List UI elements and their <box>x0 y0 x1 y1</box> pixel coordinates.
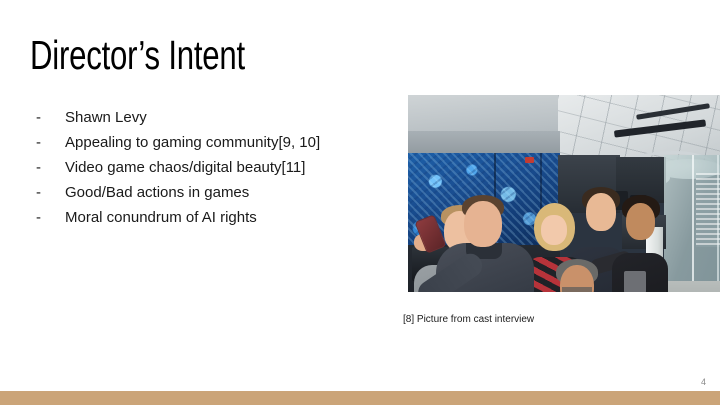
photo-person-5-shirt-graphic <box>624 271 646 292</box>
photo-person-3-head <box>541 215 567 245</box>
bullet-marker: - <box>36 105 65 130</box>
list-item-label: Moral conundrum of AI rights <box>65 205 406 230</box>
list-item-label: Appealing to gaming community[9, 10] <box>65 130 406 155</box>
photo-glass-mullion <box>692 155 694 292</box>
bullet-marker: - <box>36 205 65 230</box>
photo-person-6-beard <box>562 287 592 292</box>
bullet-marker: - <box>36 180 65 205</box>
bullet-list: - Shawn Levy - Appealing to gaming commu… <box>36 105 406 230</box>
list-item: - Video game chaos/digital beauty[11] <box>36 155 406 180</box>
list-item: - Moral conundrum of AI rights <box>36 205 406 230</box>
page-number: 4 <box>701 377 706 387</box>
photo-person-5-head <box>626 203 655 240</box>
slide: Director’s Intent - Shawn Levy - Appeali… <box>0 0 720 405</box>
photo-person-4-head <box>586 193 616 231</box>
page-title: Director’s Intent <box>30 34 245 77</box>
photo-person-1-head <box>464 201 502 247</box>
bullet-marker: - <box>36 155 65 180</box>
cast-interview-photo <box>408 95 720 292</box>
bullet-marker: - <box>36 130 65 155</box>
list-item: - Appealing to gaming community[9, 10] <box>36 130 406 155</box>
list-item-label: Video game chaos/digital beauty[11] <box>65 155 406 180</box>
list-item-label: Good/Bad actions in games <box>65 180 406 205</box>
list-item: - Good/Bad actions in games <box>36 180 406 205</box>
photo-floor-right <box>664 281 720 292</box>
footer-accent-bar <box>0 391 720 405</box>
list-item-label: Shawn Levy <box>65 105 406 130</box>
photo-exit-sign <box>525 157 534 163</box>
list-item: - Shawn Levy <box>36 105 406 130</box>
figure-caption: [8] Picture from cast interview <box>403 314 534 325</box>
photo-glass-mullion-2 <box>717 155 719 292</box>
